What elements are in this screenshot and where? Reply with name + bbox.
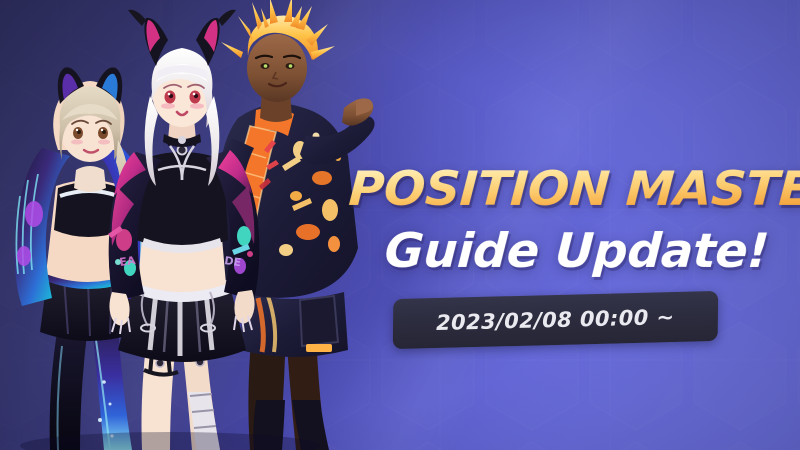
promo-banner: DE EA xyxy=(0,0,800,450)
svg-text:EA: EA xyxy=(119,254,137,269)
character-group-artwork: DE EA xyxy=(0,0,380,450)
svg-text:DE: DE xyxy=(224,254,242,269)
character-middle: DE EA xyxy=(108,10,259,450)
